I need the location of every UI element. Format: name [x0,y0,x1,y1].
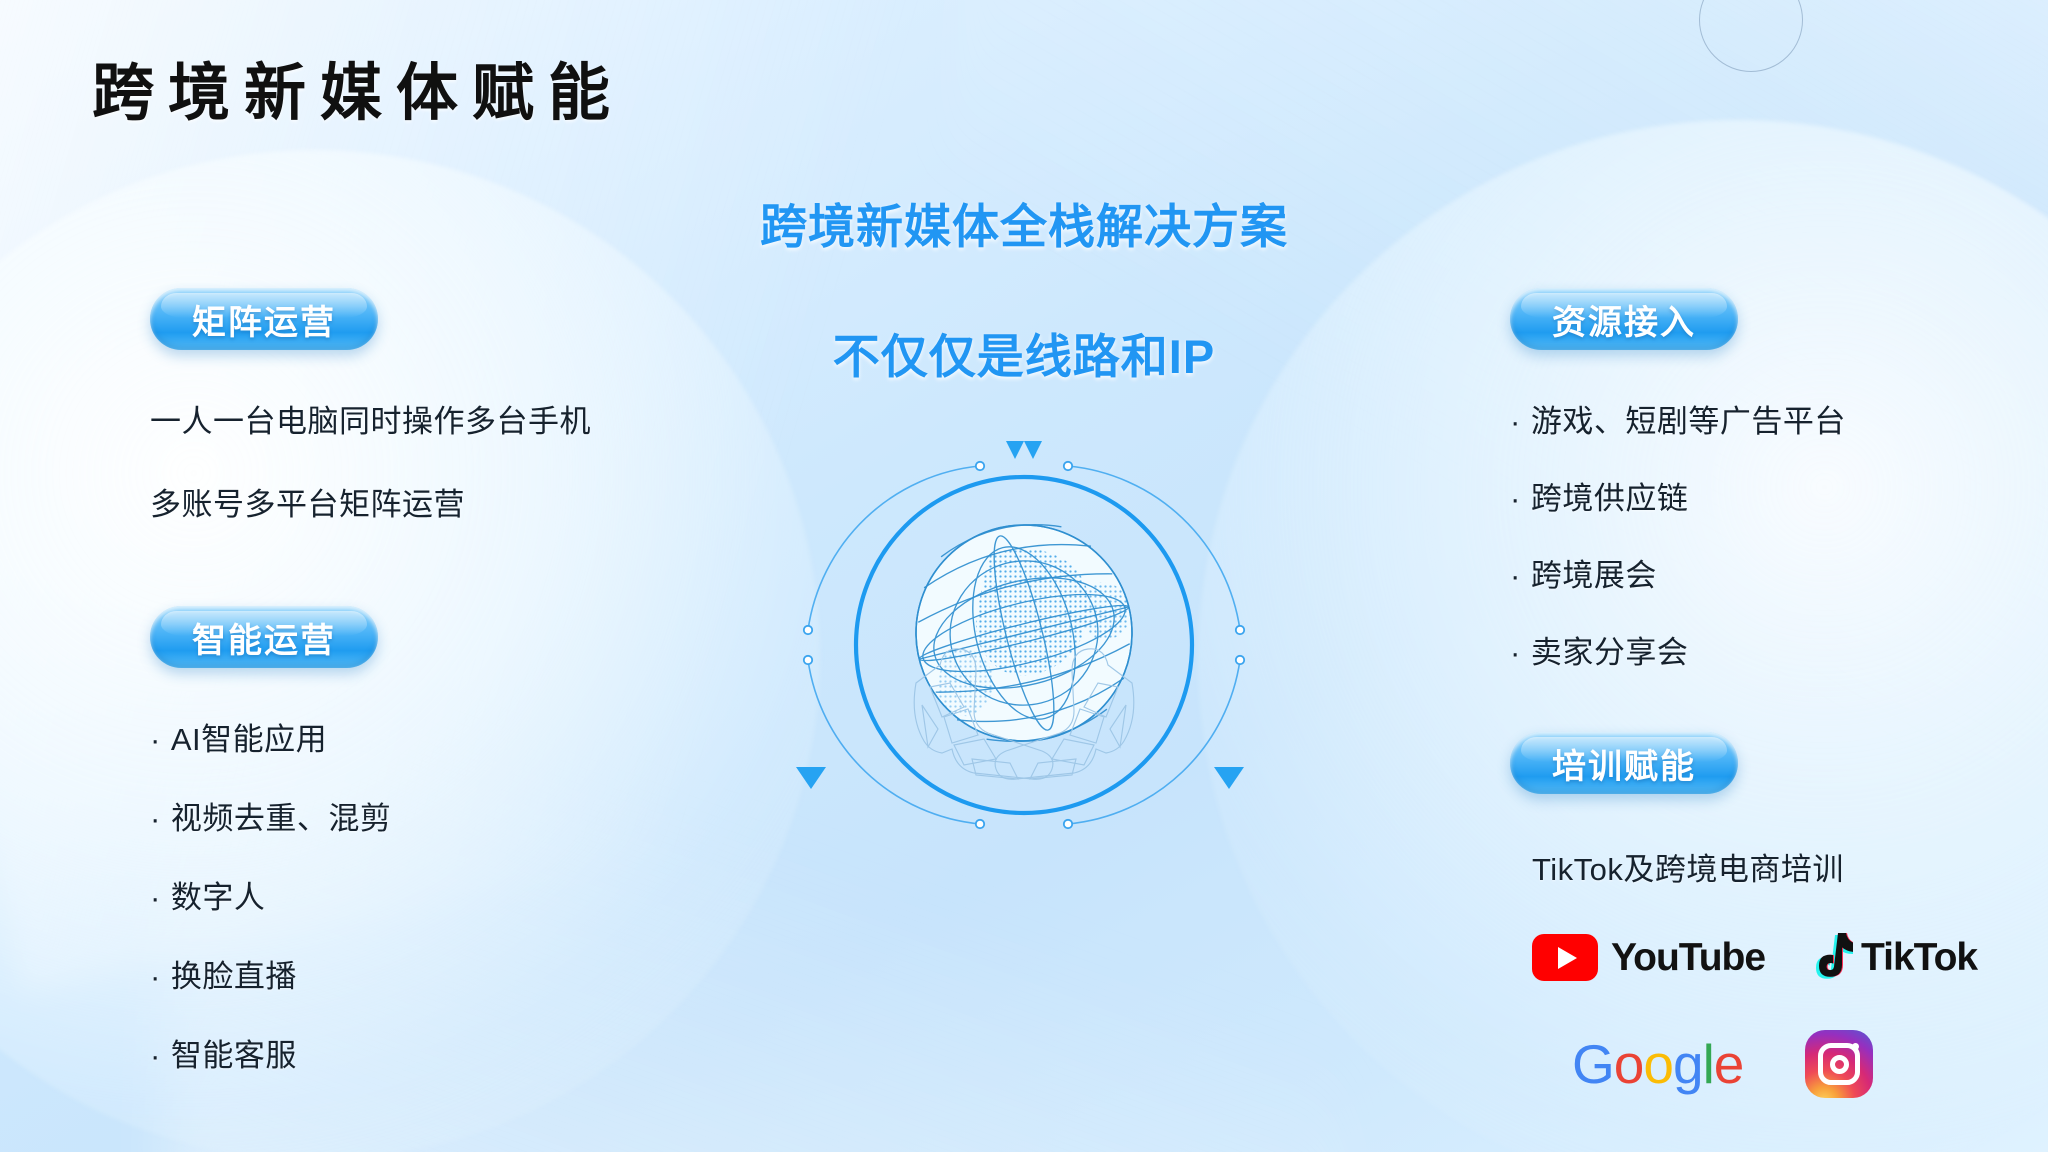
right-column: 资源接入 ·游戏、短剧等广告平台 ·跨境供应链 ·跨境展会 ·卖家分享会 培训赋… [1510,288,2030,1098]
section-resource-access: 资源接入 ·游戏、短剧等广告平台 ·跨境供应链 ·跨境展会 ·卖家分享会 [1510,288,2030,672]
youtube-label: YouTube [1611,936,1765,980]
badge-resource-access[interactable]: 资源接入 [1510,288,1738,350]
google-letter-l: l [1703,1032,1714,1096]
google-letter-g1: G [1572,1032,1614,1096]
instagram-logo[interactable] [1805,1030,1873,1098]
youtube-logo[interactable]: YouTube [1532,934,1765,981]
training-description: TikTok及跨境电商培训 [1532,844,2030,889]
left-item-smart-2-label: 视频去重、混剪 [171,801,392,836]
left-item-smart-2: ·视频去重、混剪 [150,793,770,838]
google-letter-o2: o [1643,1032,1673,1096]
left-item-smart-1: ·AI智能应用 [150,714,770,759]
left-column: 矩阵运营 一人一台电脑同时操作多台手机 多账号多平台矩阵运营 智能运营 ·AI智… [150,288,770,1075]
google-letter-e: e [1714,1032,1744,1096]
left-item-smart-5: ·智能客服 [150,1030,770,1075]
right-item-resource-3-label: 跨境展会 [1531,558,1657,593]
left-item-smart-3: ·数字人 [150,872,770,917]
right-item-resource-2-label: 跨境供应链 [1531,481,1689,516]
left-item-smart-3-label: 数字人 [171,880,266,915]
center-heading-secondary: 不仅仅是线路和IP [833,318,1215,387]
left-item-matrix-2: 多账号多平台矩阵运营 [150,479,770,524]
left-item-smart-1-label: AI智能应用 [171,722,327,757]
page-title: 跨境新媒体赋能 [92,42,624,132]
logo-row-secondary: G o o g l e [1572,1030,2030,1098]
logo-row-primary: YouTube TikTok [1532,931,2030,984]
section-matrix-operations: 矩阵运营 一人一台电脑同时操作多台手机 多账号多平台矩阵运营 [150,288,770,524]
right-item-resource-4-label: 卖家分享会 [1531,635,1689,670]
google-letter-g2: g [1673,1032,1703,1096]
globe-illustration [794,415,1254,875]
slide-canvas: 跨境新媒体赋能 跨境新媒体全栈解决方案 不仅仅是线路和IP [0,0,2048,1152]
left-item-smart-4-label: 换脸直播 [171,959,297,994]
bullet-dot: · [150,959,161,994]
badge-training-enablement[interactable]: 培训赋能 [1510,732,1738,794]
youtube-play-icon [1532,934,1598,981]
bullet-dot: · [1510,635,1521,670]
left-item-smart-4: ·换脸直播 [150,951,770,996]
center-heading-primary: 跨境新媒体全栈解决方案 [760,188,1288,257]
badge-smart-operations[interactable]: 智能运营 [150,606,378,668]
tiktok-label: TikTok [1861,936,1977,980]
tiktok-note-icon [1811,931,1853,984]
right-item-resource-2: ·跨境供应链 [1510,473,2030,518]
left-item-smart-5-label: 智能客服 [171,1038,297,1073]
right-item-resource-4: ·卖家分享会 [1510,627,2030,672]
bullet-dot: · [1510,558,1521,593]
right-item-resource-1-label: 游戏、短剧等广告平台 [1531,404,1846,439]
bullet-dot: · [1510,404,1521,439]
badge-matrix-operations[interactable]: 矩阵运营 [150,288,378,350]
google-logo[interactable]: G o o g l e [1572,1032,1743,1096]
bullet-dot: · [150,722,161,757]
left-item-matrix-1: 一人一台电脑同时操作多台手机 [150,396,770,441]
bullet-dot: · [150,880,161,915]
tiktok-logo[interactable]: TikTok [1811,931,1977,984]
bullet-dot: · [1510,481,1521,516]
section-training-enablement: 培训赋能 TikTok及跨境电商培训 YouTube [1510,732,2030,1098]
bullet-dot: · [150,1038,161,1073]
right-item-resource-1: ·游戏、短剧等广告平台 [1510,396,2030,441]
google-letter-o1: o [1614,1032,1644,1096]
section-smart-operations: 智能运营 ·AI智能应用 ·视频去重、混剪 ·数字人 ·换脸直播 ·智能客服 [150,606,770,1075]
bullet-dot: · [150,801,161,836]
right-item-resource-3: ·跨境展会 [1510,550,2030,595]
